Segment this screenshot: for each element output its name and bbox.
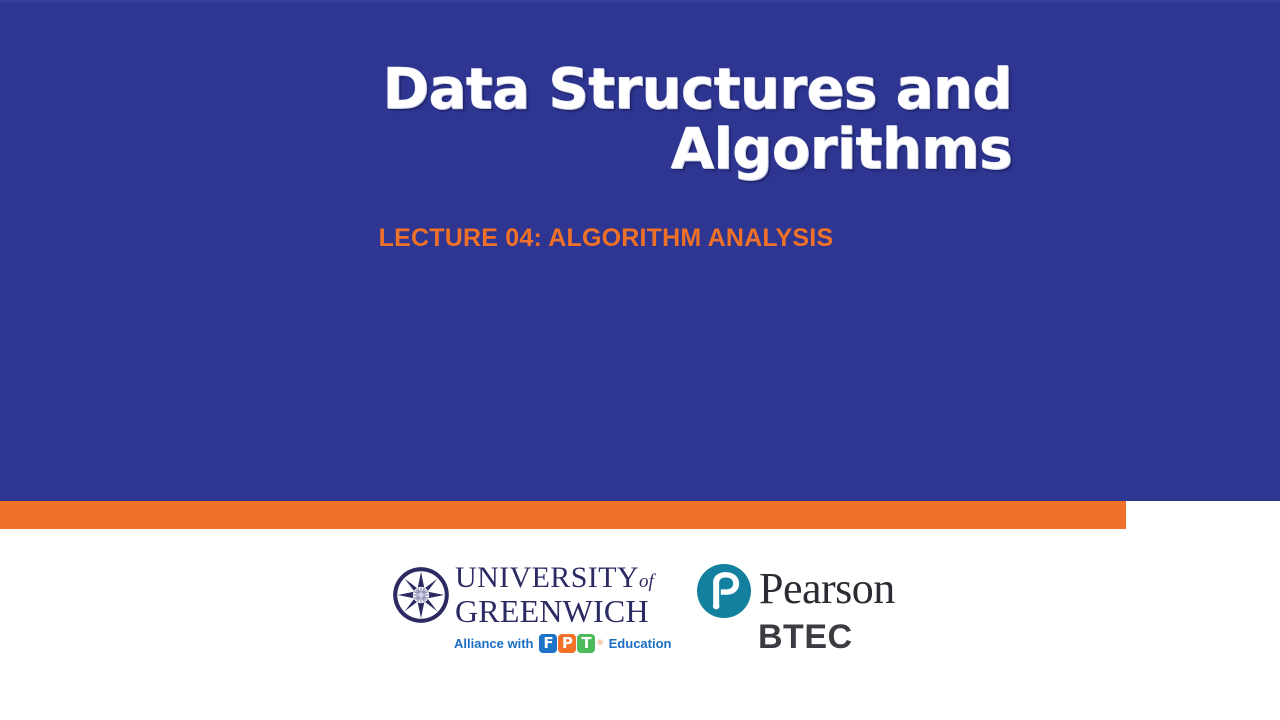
fpt-logo-icon: F P T ® [539,634,602,653]
fpt-registered-mark: ® [597,634,602,653]
greenwich-wordmark-line-2: GREENWICH [455,595,654,627]
hero-panel: Data Structures and Algorithms LECTURE 0… [0,0,1280,501]
hero-top-accent-line [0,0,1280,3]
greenwich-of-text: of [639,571,654,592]
pearson-primary-lockup: Pearson [697,562,897,620]
alliance-prefix-text: Alliance with [454,636,533,651]
pearson-wordmark: Pearson [759,564,895,614]
title-line-1: Data Structures and [200,60,1012,120]
greenwich-wordmark: UNIVERSITYof GREENWICH [455,563,654,627]
btec-wordmark: BTEC [758,618,853,656]
compass-rose-icon [392,566,450,624]
footer-logo-row: UNIVERSITYof GREENWICH Alliance with F P… [0,552,1280,672]
orange-accent-band [0,501,1126,529]
fpt-tile-f: F [539,634,557,653]
greenwich-primary-lockup: UNIVERSITYof GREENWICH [392,560,654,622]
pearson-btec-logo: Pearson BTEC [697,562,897,662]
title-slide: Data Structures and Algorithms LECTURE 0… [0,0,1280,720]
pearson-interrobang-icon [697,564,751,618]
page-title: Data Structures and Algorithms [200,60,1012,180]
university-of-greenwich-logo: UNIVERSITYof GREENWICH Alliance with F P… [392,560,654,665]
greenwich-university-text: UNIVERSITY [455,561,639,594]
title-line-2: Algorithms [200,120,1012,180]
alliance-suffix-text: Education [609,636,672,651]
fpt-tile-p: P [558,634,576,653]
fpt-alliance-lockup: Alliance with F P T ® Education [454,634,671,653]
fpt-tile-t: T [577,634,595,653]
greenwich-wordmark-line-1: UNIVERSITYof [455,563,654,593]
lecture-subtitle: LECTURE 04: ALGORITHM ANALYSIS [200,222,1012,254]
